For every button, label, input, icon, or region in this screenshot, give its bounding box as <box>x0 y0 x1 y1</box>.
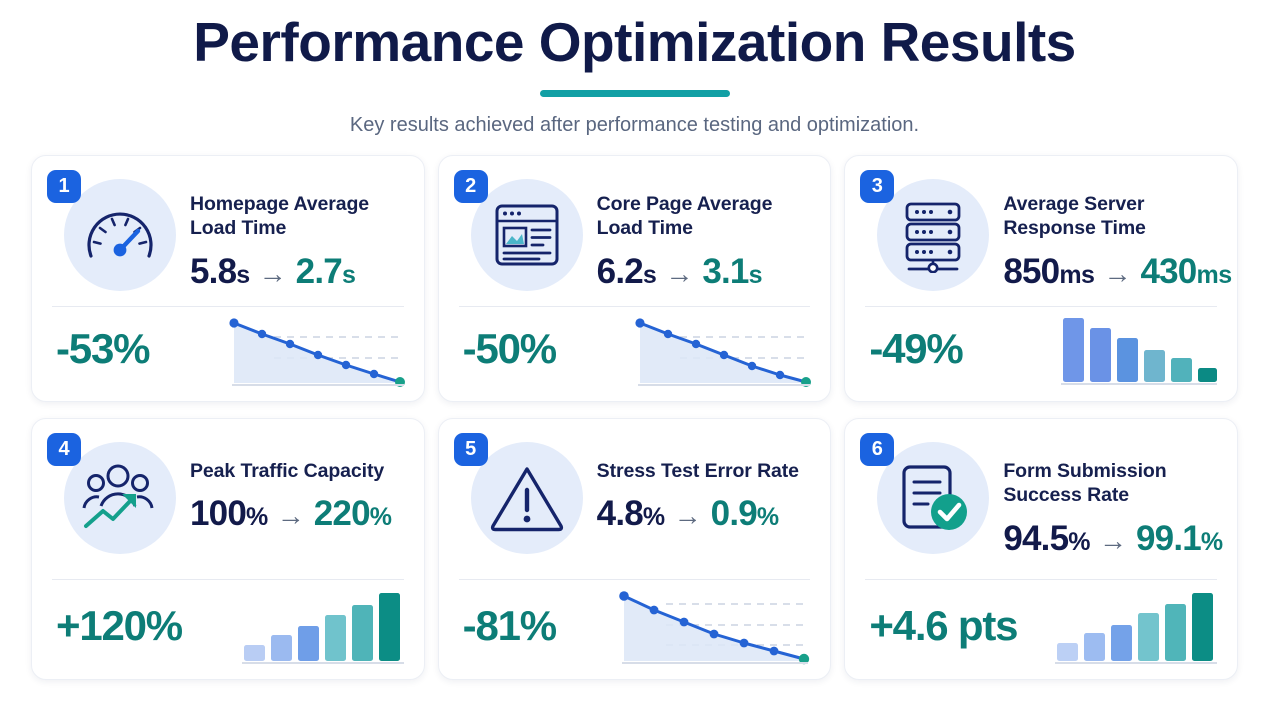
card-number-badge: 1 <box>47 170 81 203</box>
card-number-badge: 5 <box>454 433 488 466</box>
card-number-badge: 3 <box>860 170 894 203</box>
before-value: 100 <box>190 494 246 534</box>
after-unit: % <box>370 503 392 532</box>
before-value: 94.5 <box>1003 519 1068 559</box>
delta-value: +4.6 pts <box>863 602 1017 650</box>
metric-label: Core Page Average Load Time <box>597 192 813 241</box>
delta-value: -53% <box>50 325 149 373</box>
before-unit: ms <box>1059 261 1094 290</box>
after-unit: s <box>749 261 762 290</box>
delta-value: -81% <box>457 602 556 650</box>
card-header: Homepage Average Load Time 5.8s → 2.7s <box>50 170 406 300</box>
metric-values: 6.2s → 3.1s <box>597 252 813 292</box>
delta-value: +120% <box>50 602 182 650</box>
metric-card-6[interactable]: 6 Form Submis <box>844 418 1238 680</box>
after-unit: s <box>342 261 355 290</box>
card-footer: -81% <box>457 580 813 670</box>
arrow-icon: → <box>1099 525 1127 557</box>
card-header: Form Submission Success Rate 94.5% → 99.… <box>863 433 1219 573</box>
before-value: 5.8 <box>190 252 236 292</box>
metric-card-5[interactable]: 5 Stress Test Error Rate 4.8% → 0.9% <box>438 418 832 680</box>
after-unit: % <box>757 503 779 532</box>
sparkline-chart <box>632 310 812 388</box>
card-info: Peak Traffic Capacity 100% → 220% <box>190 433 406 535</box>
metric-label: Average Server Response Time <box>1003 192 1231 241</box>
browser-page-icon <box>489 198 565 272</box>
before-unit: % <box>643 503 665 532</box>
metric-card-4[interactable]: 4 <box>31 418 425 680</box>
before-value: 4.8 <box>597 494 643 534</box>
after-value: 2.7 <box>296 252 342 292</box>
card-header: Peak Traffic Capacity 100% → 220% <box>50 433 406 573</box>
after-value: 99.1 <box>1136 519 1201 559</box>
bar-chart <box>1057 310 1219 388</box>
card-footer: +120% <box>50 580 406 670</box>
card-number-badge: 4 <box>47 433 81 466</box>
page-title: Performance Optimization Results <box>31 14 1238 72</box>
delta-value: -49% <box>863 325 962 373</box>
server-rack-icon <box>896 197 970 273</box>
after-value: 220 <box>314 494 370 534</box>
card-info: Average Server Response Time 850ms → 430… <box>1003 170 1231 292</box>
sparkline-chart <box>616 585 812 667</box>
before-unit: % <box>1068 528 1090 557</box>
card-header: Stress Test Error Rate 4.8% → 0.9% <box>457 433 813 573</box>
arrow-icon: → <box>259 258 287 290</box>
page-subtitle: Key results achieved after performance t… <box>31 114 1238 137</box>
card-info: Core Page Average Load Time 6.2s → 3.1s <box>597 170 813 292</box>
metric-values: 5.8s → 2.7s <box>190 252 406 292</box>
infographic-page: Performance Optimization Results Key res… <box>0 0 1269 713</box>
card-info: Homepage Average Load Time 5.8s → 2.7s <box>190 170 406 292</box>
card-header: Core Page Average Load Time 6.2s → 3.1s <box>457 170 813 300</box>
metric-card-grid: 1 <box>31 155 1238 680</box>
after-value: 3.1 <box>702 252 748 292</box>
bar-chart <box>1051 585 1219 667</box>
form-check-icon <box>894 460 972 536</box>
arrow-icon: → <box>1103 258 1131 290</box>
accent-bar <box>540 90 730 97</box>
metric-label: Stress Test Error Rate <box>597 459 813 484</box>
before-unit: % <box>246 503 268 532</box>
card-footer: +4.6 pts <box>863 580 1219 670</box>
delta-value: -50% <box>457 325 556 373</box>
audience-growth-icon <box>79 462 161 534</box>
after-unit: % <box>1201 528 1223 557</box>
metric-values: 94.5% → 99.1% <box>1003 519 1222 559</box>
gauge-icon <box>81 198 159 272</box>
metric-values: 4.8% → 0.9% <box>597 494 813 534</box>
after-value: 430 <box>1140 252 1196 292</box>
after-value: 0.9 <box>711 494 757 534</box>
metric-card-3[interactable]: 3 <box>844 155 1238 402</box>
metric-values: 850ms → 430ms <box>1003 252 1231 292</box>
after-unit: ms <box>1196 261 1231 290</box>
bar-chart <box>238 585 406 667</box>
warning-triangle-icon <box>487 462 567 534</box>
before-unit: s <box>236 261 249 290</box>
sparkline-chart <box>226 310 406 388</box>
metric-label: Peak Traffic Capacity <box>190 459 406 484</box>
card-footer: -53% <box>50 307 406 389</box>
before-unit: s <box>643 261 656 290</box>
metric-card-1[interactable]: 1 <box>31 155 425 402</box>
card-header: Average Server Response Time 850ms → 430… <box>863 170 1219 300</box>
card-number-badge: 2 <box>454 170 488 203</box>
arrow-icon: → <box>674 500 702 532</box>
card-info: Stress Test Error Rate 4.8% → 0.9% <box>597 433 813 535</box>
metric-label: Form Submission Success Rate <box>1003 459 1222 508</box>
before-value: 6.2 <box>597 252 643 292</box>
header: Performance Optimization Results Key res… <box>31 0 1238 137</box>
before-value: 850 <box>1003 252 1059 292</box>
arrow-icon: → <box>665 258 693 290</box>
card-number-badge: 6 <box>860 433 894 466</box>
arrow-icon: → <box>277 500 305 532</box>
metric-label: Homepage Average Load Time <box>190 192 406 241</box>
card-footer: -49% <box>863 307 1219 389</box>
card-info: Form Submission Success Rate 94.5% → 99.… <box>1003 433 1222 559</box>
metric-card-2[interactable]: 2 <box>438 155 832 402</box>
metric-values: 100% → 220% <box>190 494 406 534</box>
card-footer: -50% <box>457 307 813 389</box>
